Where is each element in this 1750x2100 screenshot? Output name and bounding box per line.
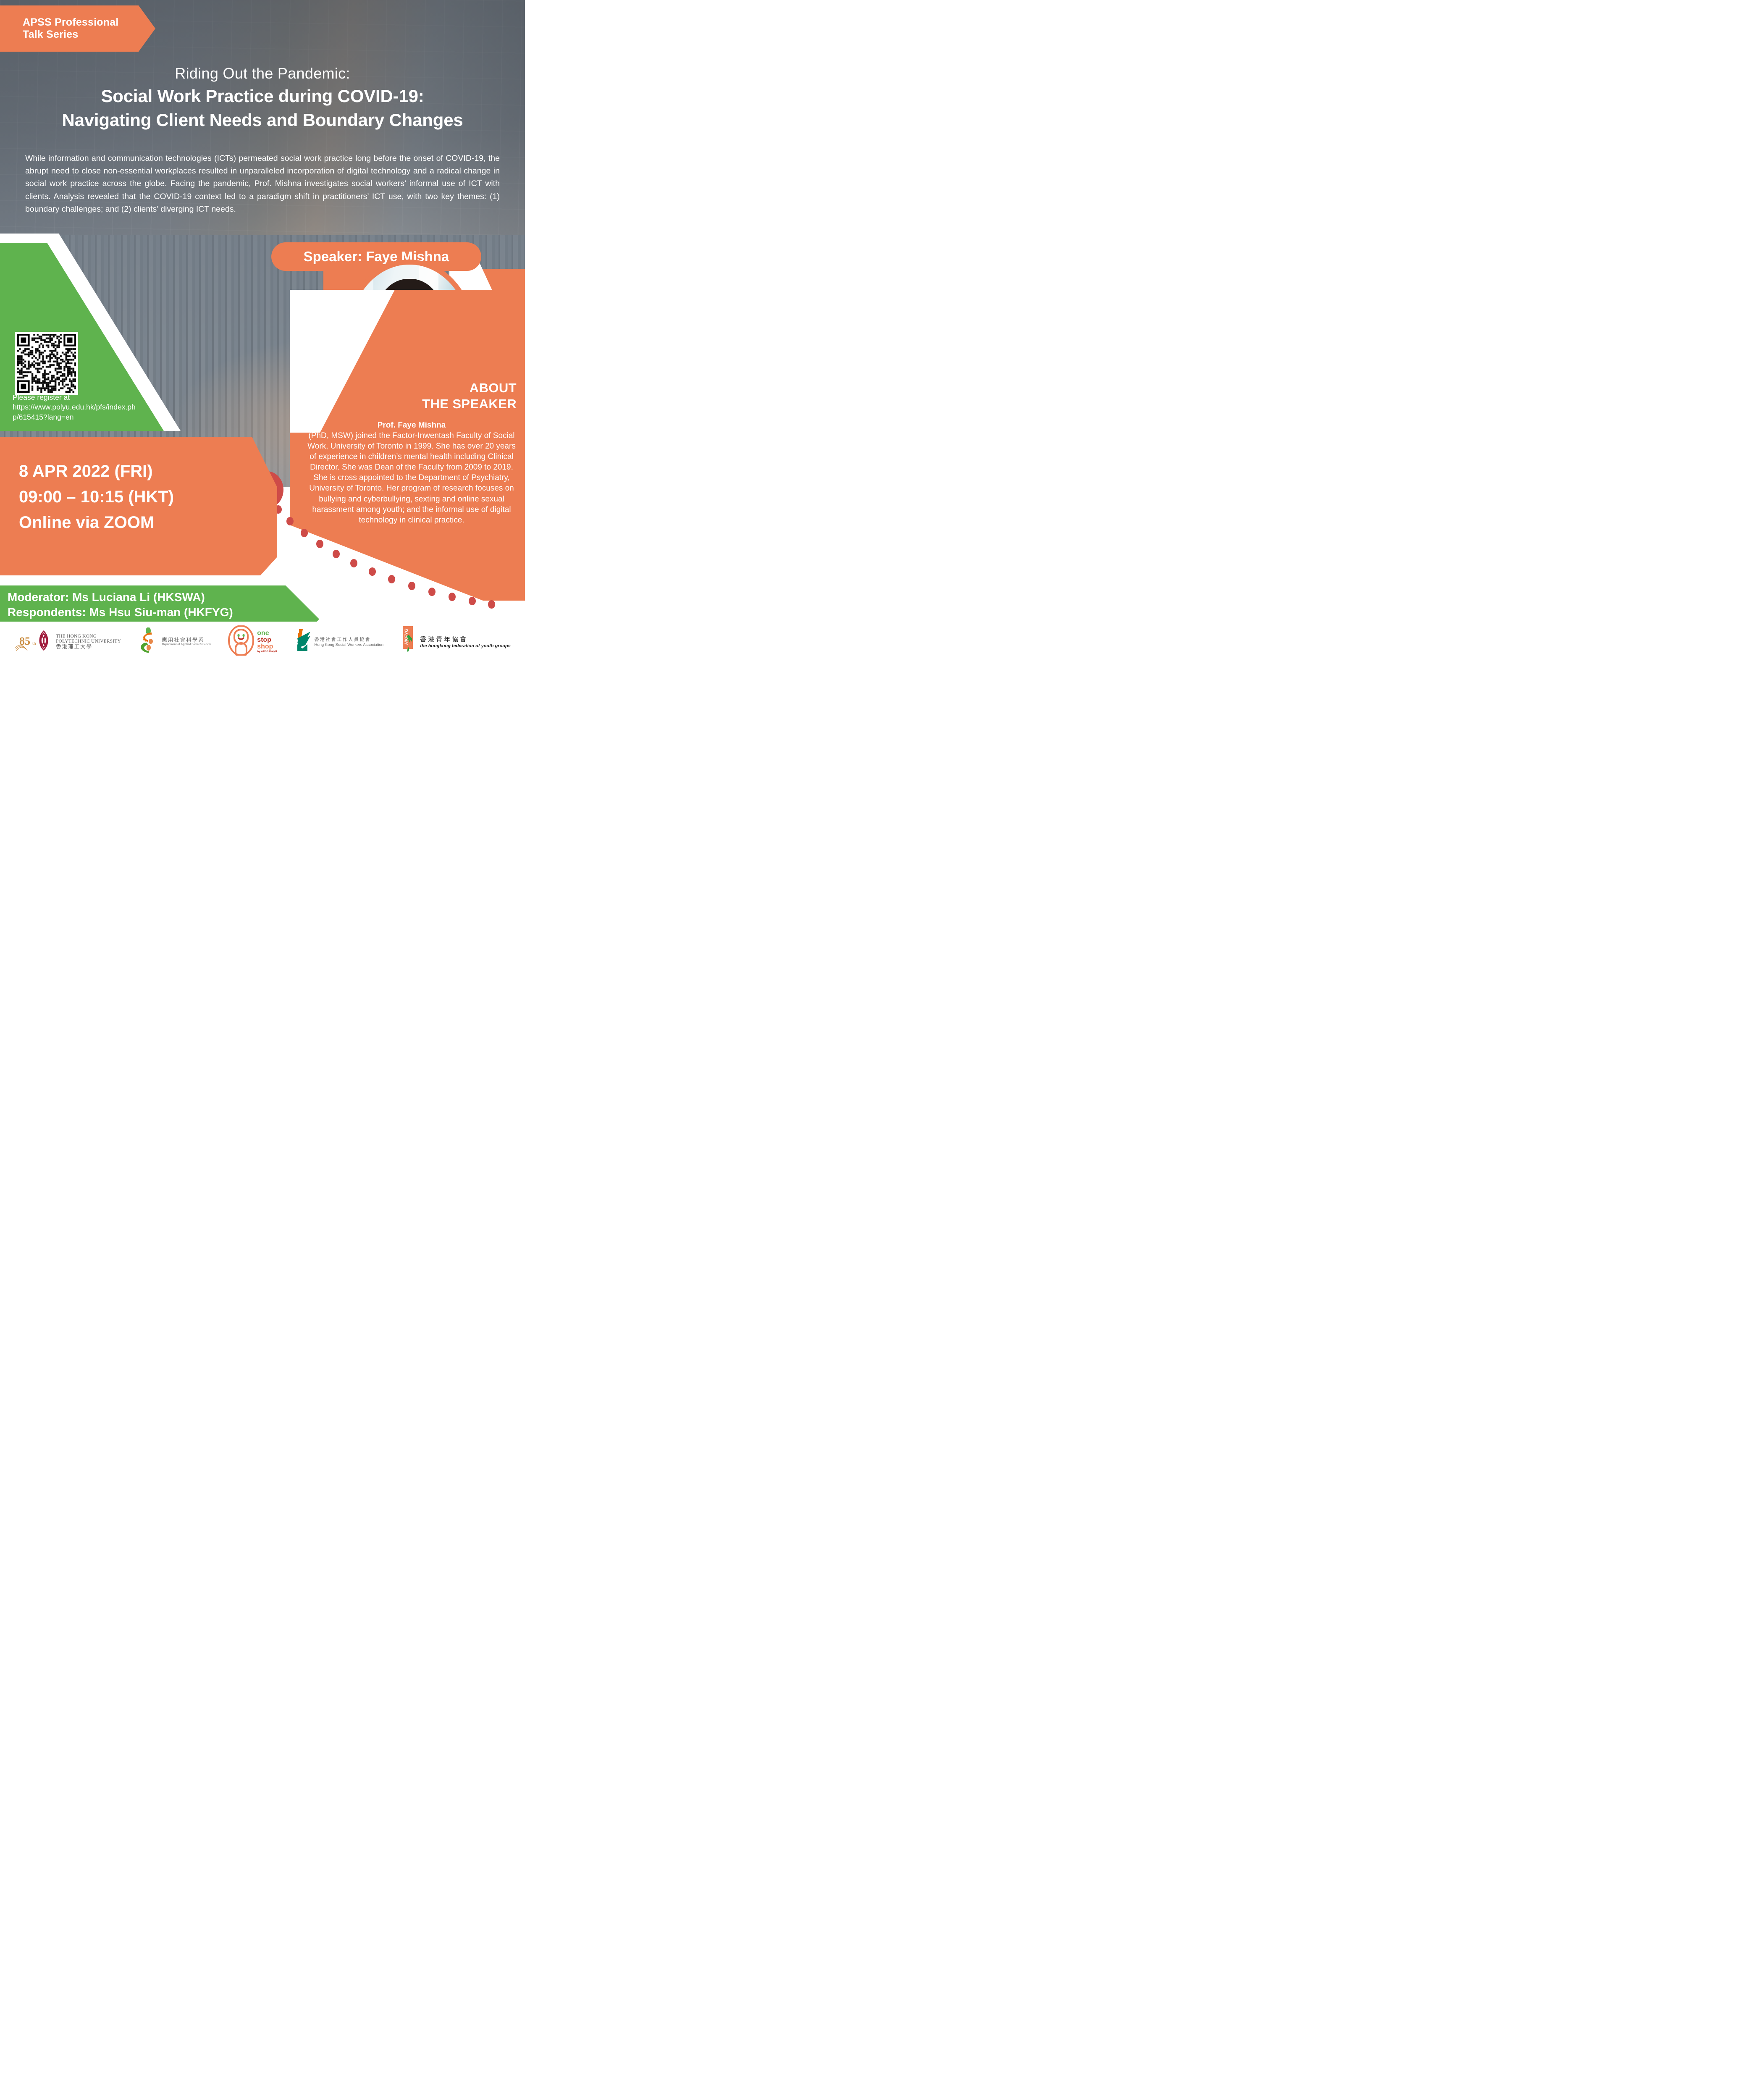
apss-en-name: Department of Applied Social Sciences [162, 643, 211, 646]
hkswa-logo: 香港社會工作人員協會 Hong Kong Social Workers Asso… [294, 627, 383, 656]
polyu-logo-text: THE HONG KONG POLYTECHNIC UNIVERSITY 香港理… [56, 634, 121, 649]
hkfyg-logo-text: 香港青年協會 the hongkong federation of youth … [420, 635, 511, 648]
hkfyg-logo: HKFYG 香港青年協會 the hongkong federation of … [400, 625, 511, 658]
speaker-bio: Prof. Faye Mishna (PhD, MSW) joined the … [307, 420, 517, 525]
hkswa-zh-name: 香港社會工作人員協會 [314, 636, 383, 643]
footer-logo-bar: 85 th THE HONG KONG POLYTECHNIC UNIVERSI… [0, 622, 525, 661]
event-date: 8 APR 2022 (FRI) [19, 459, 254, 484]
about-heading-line-1: ABOUT [319, 380, 517, 396]
hkfyg-zh-name: 香港青年協會 [420, 635, 511, 643]
svg-text:85: 85 [19, 635, 30, 647]
apss-swirl-icon [138, 627, 159, 656]
polyu-en-line-1: THE HONG KONG [56, 634, 121, 639]
oss-word-one: one [257, 630, 277, 637]
qr-code-icon[interactable] [15, 332, 78, 395]
title-overline: Riding Out the Pandemic: [0, 64, 525, 83]
one-stop-shop-logo: one stop shop by APSS PolyU [228, 625, 277, 658]
about-speaker-heading: ABOUT THE SPEAKER [319, 380, 517, 412]
svg-text:th: th [32, 641, 36, 646]
abstract-paragraph: While information and communication tech… [25, 152, 500, 215]
hkswa-en-name: Hong Kong Social Workers Association [314, 643, 383, 647]
event-details-text: 8 APR 2022 (FRI) 09:00 – 10:15 (HKT) Onl… [19, 459, 254, 535]
hkswa-logo-text: 香港社會工作人員協會 Hong Kong Social Workers Asso… [314, 636, 383, 647]
hkfyg-mark-icon: HKFYG [400, 625, 417, 658]
apss-series-label: APSS ProfessionalTalk Series [0, 16, 118, 41]
oss-word-shop: shop [257, 643, 277, 650]
event-mode: Online via ZOOM [19, 510, 254, 535]
apss-department-logo: 應用社會科學系 Department of Applied Social Sci… [138, 627, 211, 656]
registration-text: Please register at https://www.polyu.edu… [13, 393, 139, 422]
title-line-2: Navigating Client Needs and Boundary Cha… [0, 109, 525, 131]
polyu-85th-logo: 85 th THE HONG KONG POLYTECHNIC UNIVERSI… [14, 628, 121, 655]
page-title: Riding Out the Pandemic: Social Work Pra… [0, 64, 525, 131]
moderator-line: Moderator: Ms Luciana Li (HKSWA) [8, 590, 302, 605]
speaker-bio-name: Prof. Faye Mishna [378, 421, 446, 430]
about-heading-line-2: THE SPEAKER [319, 396, 517, 412]
title-line-1: Social Work Practice during COVID-19: [0, 85, 525, 107]
hkfyg-en-name: the hongkong federation of youth groups [420, 643, 511, 648]
speaker-bio-body: (PhD, MSW) joined the Factor-Inwentash F… [307, 431, 516, 525]
polyu-85th-mark-icon: 85 th [14, 628, 53, 655]
apss-logo-text: 應用社會科學系 Department of Applied Social Sci… [162, 637, 211, 646]
apss-series-ribbon: APSS ProfessionalTalk Series [0, 5, 155, 52]
event-time: 09:00 – 10:15 (HKT) [19, 484, 254, 510]
oss-tagline: by APSS PolyU [257, 651, 277, 654]
one-stop-shop-text: one stop shop by APSS PolyU [257, 630, 277, 654]
oss-word-stop: stop [257, 637, 277, 643]
one-stop-shop-face-icon [228, 625, 254, 658]
poster-root: APSS ProfessionalTalk Series Riding Out … [0, 0, 525, 661]
registration-url[interactable]: https://www.polyu.edu.hk/pfs/index.php/6… [13, 402, 139, 422]
respondents-line-1: Respondents: Ms Hsu Siu-man (HKFYG) [8, 605, 302, 620]
registration-prompt: Please register at [13, 393, 139, 402]
hkswa-flame-icon [294, 627, 311, 656]
polyu-zh-name: 香港理工大學 [56, 644, 121, 649]
